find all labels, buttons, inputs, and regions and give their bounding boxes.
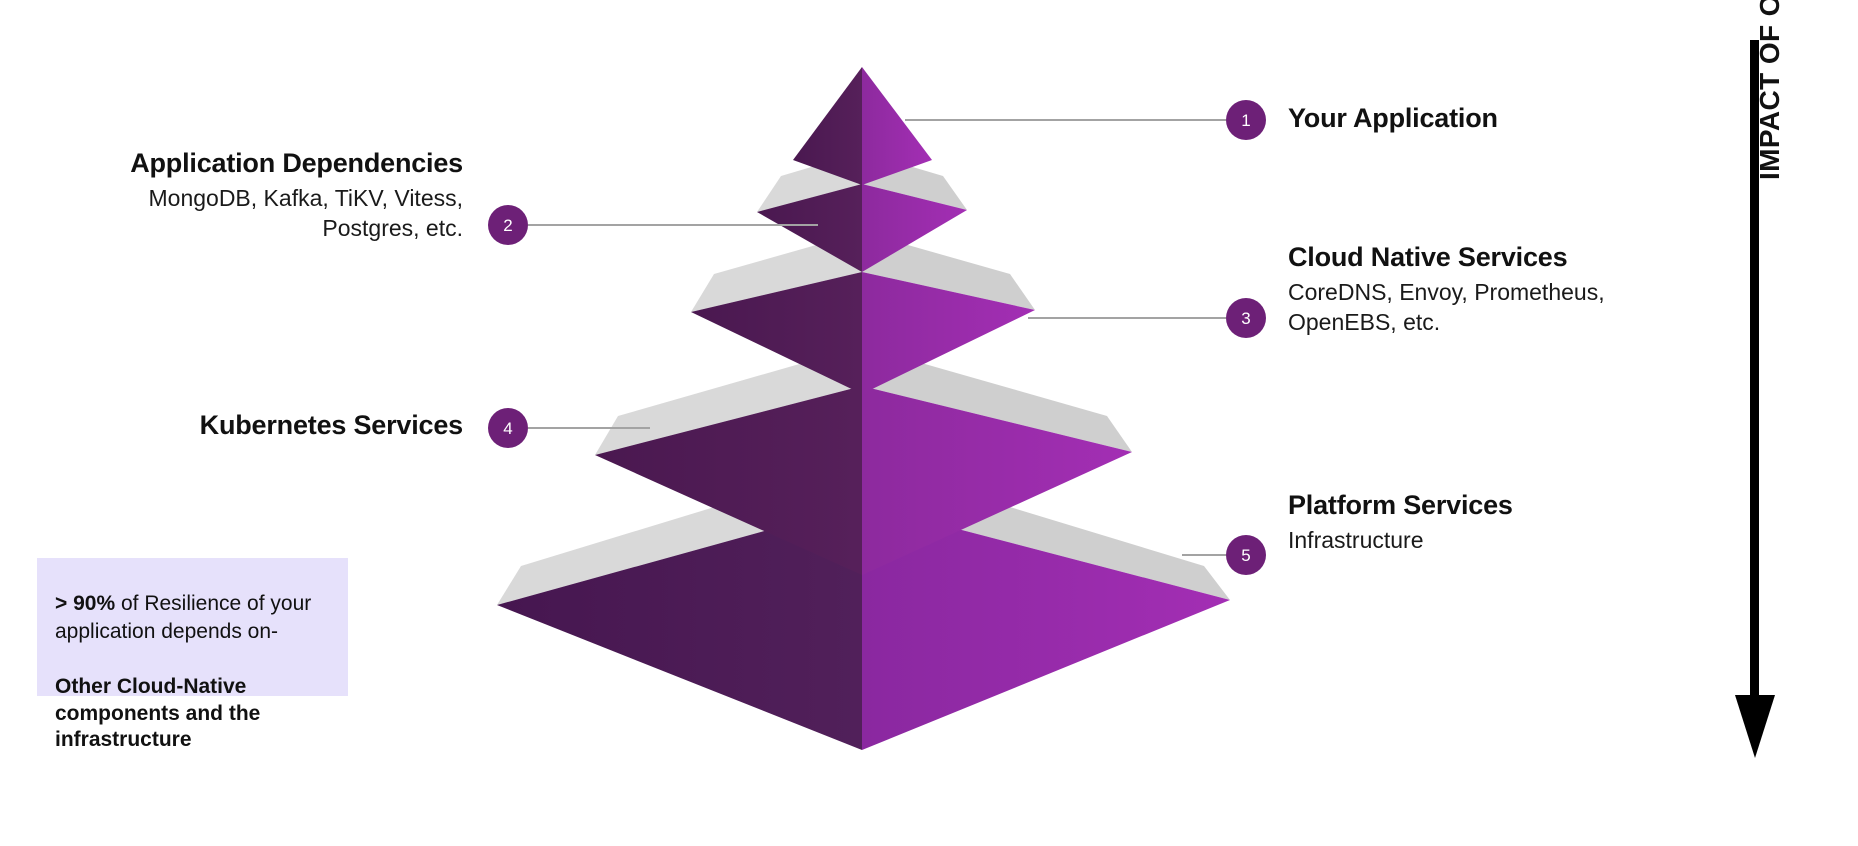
badge-level-2[interactable]: 2 [488, 205, 528, 245]
pyramid-level-4 [595, 346, 1132, 575]
label-level-2: Application Dependencies MongoDB, Kafka,… [20, 148, 463, 244]
label-level-2-subtitle-line-2: Postgres, etc. [20, 213, 463, 243]
label-level-3-title: Cloud Native Services [1288, 242, 1605, 274]
label-level-2-subtitle-line-1: MongoDB, Kafka, TiKV, Vitess, [20, 183, 463, 213]
label-level-4: Kubernetes Services [20, 410, 463, 442]
pyramid-level-3 [691, 232, 1035, 394]
pyramid-level-5 [497, 462, 1230, 750]
label-level-1-title: Your Application [1288, 103, 1498, 135]
label-level-1: Your Application [1288, 103, 1498, 135]
callout-line-1: > 90% of Resilience of your application … [55, 590, 322, 646]
impact-of-outage-label: IMPACT OF OUTAGE [1754, 0, 1786, 180]
label-level-3-subtitle-line-1: CoreDNS, Envoy, Prometheus, [1288, 277, 1605, 307]
impact-of-outage-axis: IMPACT OF OUTAGE [1720, 40, 1858, 770]
diagram-canvas: 1 2 3 4 5 Your Application Application D… [0, 0, 1858, 846]
label-level-5-title: Platform Services [1288, 490, 1513, 522]
badge-level-5[interactable]: 5 [1226, 535, 1266, 575]
label-level-2-title: Application Dependencies [20, 148, 463, 180]
label-level-5: Platform Services Infrastructure [1288, 490, 1513, 555]
callout-percentage: > 90% [55, 592, 115, 615]
label-level-3: Cloud Native Services CoreDNS, Envoy, Pr… [1288, 242, 1605, 338]
pyramid-level-1 [793, 67, 932, 185]
label-level-5-subtitle: Infrastructure [1288, 525, 1513, 555]
label-level-4-title: Kubernetes Services [20, 410, 463, 442]
connector-lines [528, 120, 1226, 555]
badge-level-1[interactable]: 1 [1226, 100, 1266, 140]
badge-level-4[interactable]: 4 [488, 408, 528, 448]
pyramid-level-2 [757, 152, 967, 272]
resilience-callout: > 90% of Resilience of your application … [37, 558, 348, 696]
label-level-3-subtitle-line-2: OpenEBS, etc. [1288, 307, 1605, 337]
label-level-2-subtitle: MongoDB, Kafka, TiKV, Vitess, Postgres, … [20, 183, 463, 244]
callout-line-2: Other Cloud-Native components and the in… [55, 674, 322, 754]
badge-level-3[interactable]: 3 [1226, 298, 1266, 338]
label-level-3-subtitle: CoreDNS, Envoy, Prometheus, OpenEBS, etc… [1288, 277, 1605, 338]
